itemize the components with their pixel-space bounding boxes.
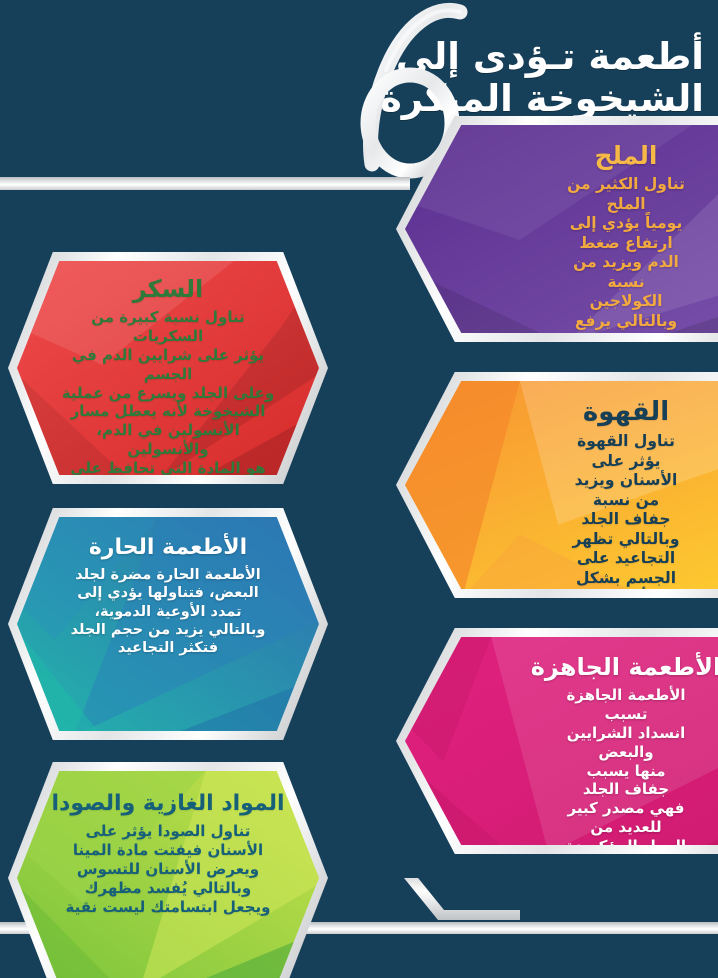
card-spicy-text: الأطعمة الحارة مضرة لجلد البعض، فتناولها… — [71, 566, 266, 657]
card-coffee[interactable]: القهوة تناول القهوة يؤثر على الأسنان ويز… — [396, 372, 718, 598]
card-spicy-title: الأطعمة الحارة — [89, 537, 247, 559]
card-spicy[interactable]: الأطعمة الحارة الأطعمة الحارة مضرة لجلد … — [8, 508, 328, 740]
card-coffee-fill: القهوة تناول القهوة يؤثر على الأسنان ويز… — [405, 381, 718, 589]
card-soda[interactable]: المواد الغازية والصودا تناول الصودا يؤثر… — [8, 762, 328, 978]
card-coffee-title: القهوة — [583, 399, 669, 425]
top-connector-ribbon — [0, 177, 410, 190]
card-fastfood[interactable]: الأطعمة الجاهزة الأطعمة الجاهزة تسبب انس… — [396, 628, 718, 854]
bottom-ribbon-step — [378, 878, 520, 922]
card-fastfood-text: الأطعمة الجاهزة تسبب انسداد الشرايين وال… — [563, 686, 689, 856]
card-fastfood-fill: الأطعمة الجاهزة الأطعمة الجاهزة تسبب انس… — [405, 637, 718, 845]
card-soda-fill: المواد الغازية والصودا تناول الصودا يؤثر… — [17, 771, 319, 978]
card-sugar-text: تناول نسبة كبيرة من السكريات يؤثر على شر… — [59, 308, 277, 516]
card-salt-title: الملح — [595, 143, 658, 168]
card-soda-text: تناول الصودا يؤثر على الأسنان فيفتت مادة… — [66, 822, 271, 916]
page-title: أطعمة تـؤدى إلى الشيخوخة المبكرة — [344, 36, 704, 120]
card-fastfood-title: الأطعمة الجاهزة — [531, 655, 718, 679]
card-spicy-fill: الأطعمة الحارة الأطعمة الحارة مضرة لجلد … — [17, 517, 319, 731]
card-sugar-title: السكر — [133, 277, 204, 301]
infographic-canvas: أطعمة تـؤدى إلى الشيخوخة المبكرة — [0, 0, 718, 978]
card-sugar[interactable]: السكر تناول نسبة كبيرة من السكريات يؤثر … — [8, 252, 328, 484]
card-coffee-text: تناول القهوة يؤثر على الأسنان ويزيد من ن… — [563, 432, 689, 608]
card-salt[interactable]: الملح تناول الكثير من الملح يومياً يؤدي … — [396, 116, 718, 342]
card-salt-fill: الملح تناول الكثير من الملح يومياً يؤدي … — [405, 125, 718, 333]
card-sugar-fill: السكر تناول نسبة كبيرة من السكريات يؤثر … — [17, 261, 319, 475]
card-soda-title: المواد الغازية والصودا — [51, 793, 284, 815]
